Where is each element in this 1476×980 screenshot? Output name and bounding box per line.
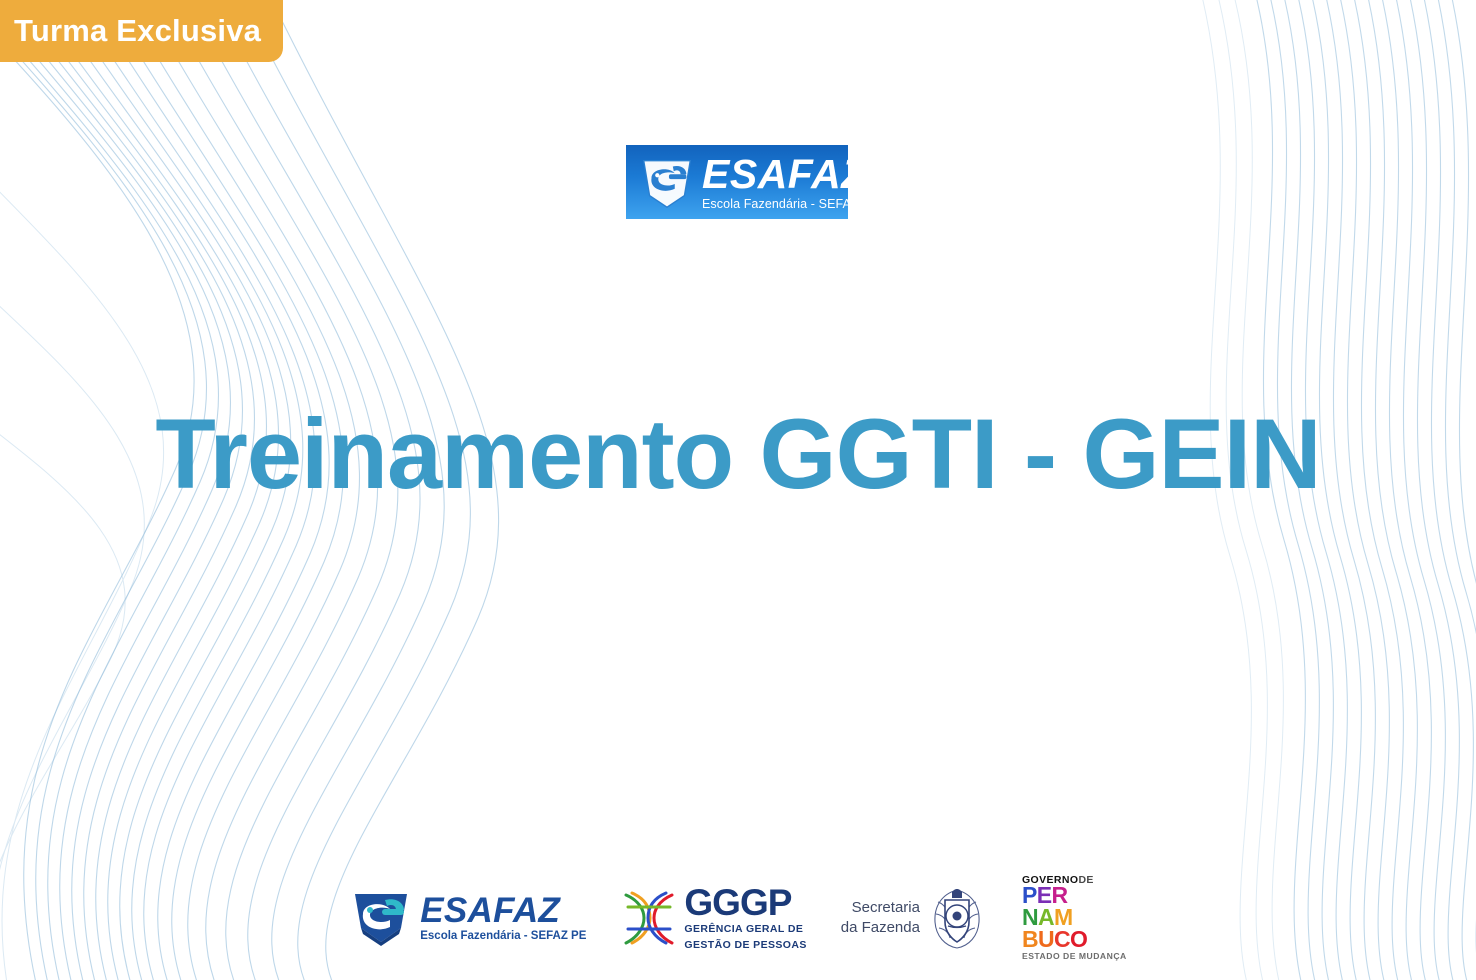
footer-esafaz-text: ESAFAZ Escola Fazendária - SEFAZ PE [420, 893, 586, 943]
presentation-slide: Turma Exclusiva ESAFAZ Escola Fazendária… [0, 0, 1476, 980]
footer-secretaria-line2: da Fazenda [841, 918, 920, 938]
footer-logo-esafaz: ESAFAZ Escola Fazendária - SEFAZ PE [349, 888, 586, 948]
badge-label: Turma Exclusiva [14, 13, 261, 49]
footer-esafaz-name: ESAFAZ [420, 893, 586, 928]
pernambuco-word-buco: BUCO [1022, 928, 1127, 951]
footer-esafaz-subtitle: Escola Fazendária - SEFAZ PE [420, 931, 586, 943]
esafaz-shield-icon [636, 151, 698, 213]
esafaz-header-name: ESAFAZ [702, 154, 848, 195]
esafaz-header-subtitle: Escola Fazendária - SEFAZ PE [702, 198, 848, 211]
footer-logo-row: ESAFAZ Escola Fazendária - SEFAZ PE GGGP… [0, 872, 1476, 964]
pernambuco-de: DE [1078, 874, 1093, 886]
turma-exclusiva-badge: Turma Exclusiva [0, 0, 283, 62]
footer-logo-governo-pernambuco: GOVERNODE PER NAM BUCO ESTADO DE MUDANÇA [1022, 875, 1127, 961]
footer-secretaria-line1: Secretaria [841, 898, 920, 918]
footer-gggp-name: GGGP [684, 884, 806, 921]
footer-gggp-subtitle-line1: GERÊNCIA GERAL DE [684, 923, 806, 936]
gggp-ribbon-icon [620, 887, 678, 949]
footer-secretaria-text: Secretaria da Fazenda [841, 898, 920, 939]
footer-logo-secretaria-fazenda: Secretaria da Fazenda [841, 884, 988, 952]
footer-logo-gggp: GGGP GERÊNCIA GERAL DE GESTÃO DE PESSOAS [620, 884, 806, 951]
footer-gggp-subtitle-line2: GESTÃO DE PESSOAS [684, 939, 806, 952]
footer-gggp-text: GGGP GERÊNCIA GERAL DE GESTÃO DE PESSOAS [684, 884, 806, 951]
pernambuco-tagline: ESTADO DE MUDANÇA [1022, 952, 1127, 961]
esafaz-header-text: ESAFAZ Escola Fazendária - SEFAZ PE [702, 154, 848, 211]
sefaz-crest-icon [926, 884, 988, 952]
page-title: Treinamento GGTI - GEIN [0, 402, 1476, 506]
esafaz-header-logo: ESAFAZ Escola Fazendária - SEFAZ PE [626, 145, 848, 219]
pernambuco-logo-icon: GOVERNODE PER NAM BUCO ESTADO DE MUDANÇA [1022, 875, 1127, 961]
esafaz-shield-icon [349, 888, 413, 948]
